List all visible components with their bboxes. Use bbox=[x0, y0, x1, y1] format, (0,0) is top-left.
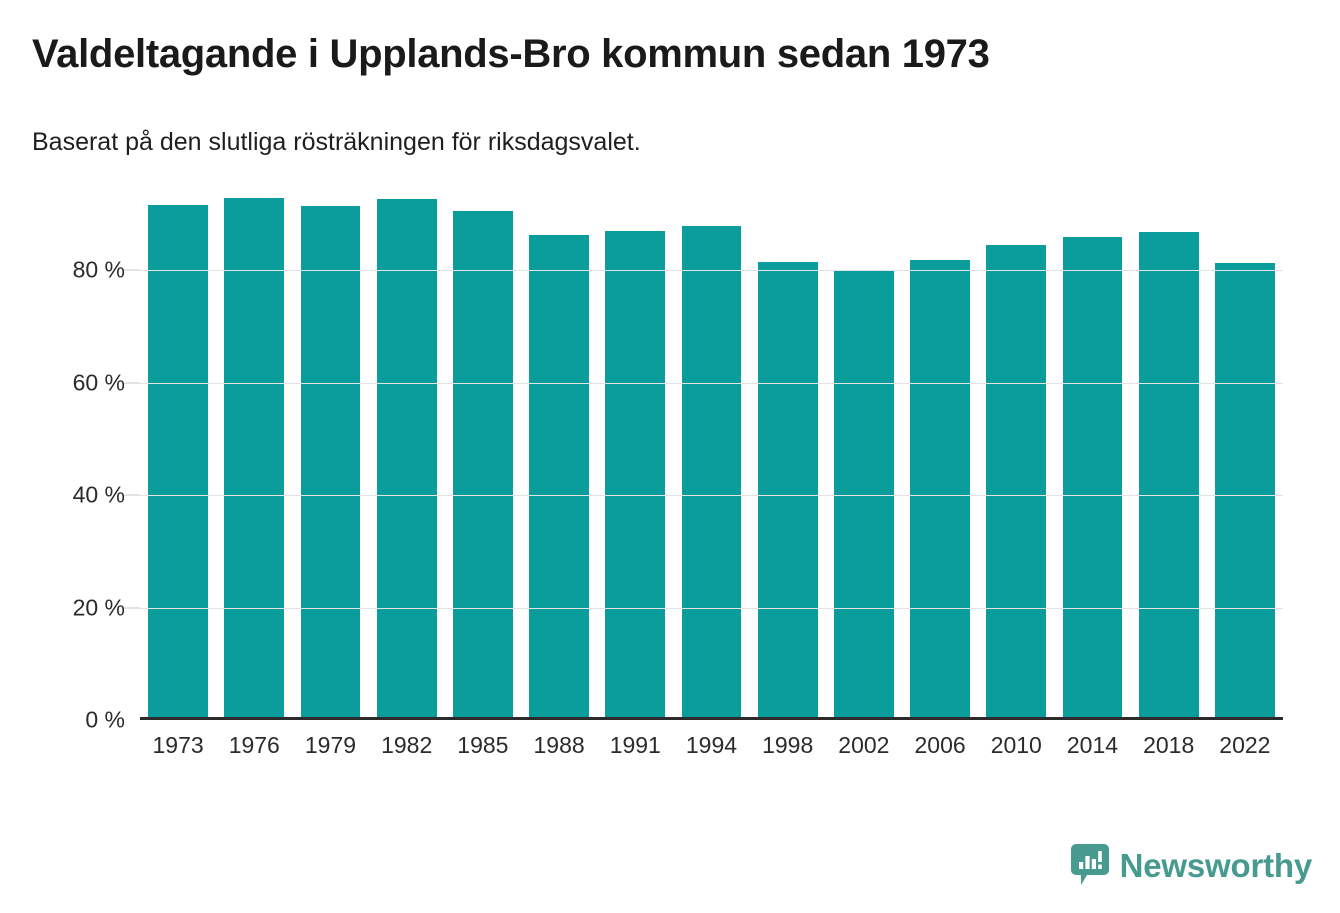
x-axis-tick-label: 2002 bbox=[826, 732, 902, 759]
x-axis-tick-label: 1991 bbox=[597, 732, 673, 759]
x-axis-tick-label: 1973 bbox=[140, 732, 216, 759]
bar-2018[interactable] bbox=[1139, 232, 1199, 720]
brand-footer: Newsworthy bbox=[1070, 843, 1312, 887]
gridline bbox=[140, 608, 1283, 609]
bar-2022[interactable] bbox=[1215, 263, 1275, 720]
y-tick-mark bbox=[124, 607, 140, 608]
y-tick-mark bbox=[124, 270, 140, 271]
gridline bbox=[140, 495, 1283, 496]
x-axis-tick-label: 1988 bbox=[521, 732, 597, 759]
x-axis-tick-label: 2022 bbox=[1207, 732, 1283, 759]
x-axis-tick-label: 2018 bbox=[1131, 732, 1207, 759]
bar-2006[interactable] bbox=[910, 260, 970, 720]
bar-2014[interactable] bbox=[1063, 237, 1123, 720]
x-axis-tick-label: 2014 bbox=[1054, 732, 1130, 759]
x-axis-line bbox=[140, 717, 1283, 720]
x-axis-tick-label: 1994 bbox=[673, 732, 749, 759]
x-axis-tick-label: 1976 bbox=[216, 732, 292, 759]
gridline bbox=[140, 383, 1283, 384]
y-axis-tick-label: 0 % bbox=[85, 707, 125, 734]
gridline bbox=[140, 270, 1283, 271]
x-axis-tick-label: 2010 bbox=[978, 732, 1054, 759]
bar-1976[interactable] bbox=[224, 198, 284, 720]
bar-1982[interactable] bbox=[377, 199, 437, 720]
brand-name: Newsworthy bbox=[1120, 849, 1312, 882]
bar-1988[interactable] bbox=[529, 235, 589, 720]
x-axis-tick-label: 1985 bbox=[445, 732, 521, 759]
y-tick-mark bbox=[124, 382, 140, 383]
y-axis-tick-label: 40 % bbox=[73, 482, 125, 509]
x-axis-tick-label: 1982 bbox=[369, 732, 445, 759]
newsworthy-bar-chart-bubble-icon bbox=[1070, 843, 1110, 887]
bar-1979[interactable] bbox=[301, 206, 361, 720]
bar-1994[interactable] bbox=[682, 226, 742, 720]
bar-1973[interactable] bbox=[148, 205, 208, 720]
y-axis-tick-label: 20 % bbox=[73, 594, 125, 621]
x-axis-tick-label: 1979 bbox=[292, 732, 368, 759]
bar-2010[interactable] bbox=[986, 245, 1046, 720]
bar-1985[interactable] bbox=[453, 211, 513, 720]
bar-1998[interactable] bbox=[758, 262, 818, 720]
y-tick-mark bbox=[124, 495, 140, 496]
chart-plot: 0 %20 %40 %60 %80 % 19731976197919821985… bbox=[0, 0, 1340, 800]
chart-page: Valdeltagande i Upplands-Bro kommun seda… bbox=[0, 0, 1340, 913]
y-axis-tick-label: 80 % bbox=[73, 257, 125, 284]
bar-1991[interactable] bbox=[605, 231, 665, 720]
y-axis-tick-label: 60 % bbox=[73, 369, 125, 396]
x-axis-tick-label: 2006 bbox=[902, 732, 978, 759]
x-axis-tick-label: 1998 bbox=[750, 732, 826, 759]
